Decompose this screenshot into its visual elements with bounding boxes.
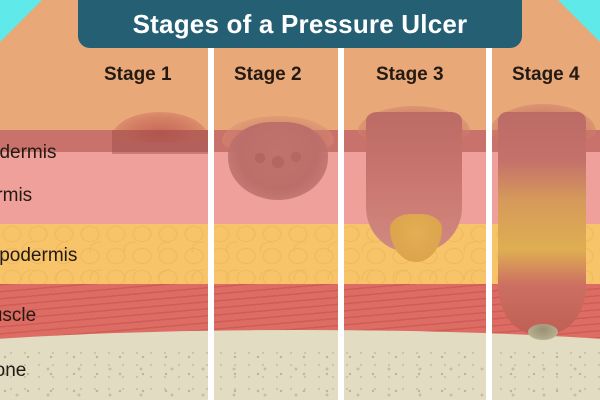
page-title: Stages of a Pressure Ulcer	[133, 9, 468, 40]
stage-divider-2	[338, 0, 344, 400]
pressure-ulcer-infographic: Stages of a Pressure Ulcer Stage 1 Stage…	[0, 0, 600, 400]
stage-2-granulation-tissue	[252, 150, 308, 172]
stage-divider-1	[208, 0, 214, 400]
stage-label-2: Stage 2	[234, 64, 302, 86]
stage-divider-3	[486, 0, 492, 400]
layer-label-epidermis: Epidermis	[0, 142, 56, 164]
stage-label-4: Stage 4	[512, 64, 580, 86]
stage-1-subsurface-discoloration	[112, 130, 208, 154]
skin-cross-section	[0, 0, 600, 400]
bone-speckle-texture	[0, 350, 600, 400]
title-banner: Stages of a Pressure Ulcer	[78, 0, 522, 48]
stage-4-bone-exposure-wound	[498, 112, 586, 334]
layer-label-muscle: Muscle	[0, 305, 36, 327]
stage-4-exposed-bone	[528, 324, 558, 340]
stage-label-3: Stage 3	[376, 64, 444, 86]
layer-label-hypodermis: Hypodermis	[0, 245, 77, 267]
layer-label-dermis: Dermis	[0, 185, 32, 207]
stage-label-1: Stage 1	[104, 64, 172, 86]
layer-label-bone: Bone	[0, 360, 26, 382]
